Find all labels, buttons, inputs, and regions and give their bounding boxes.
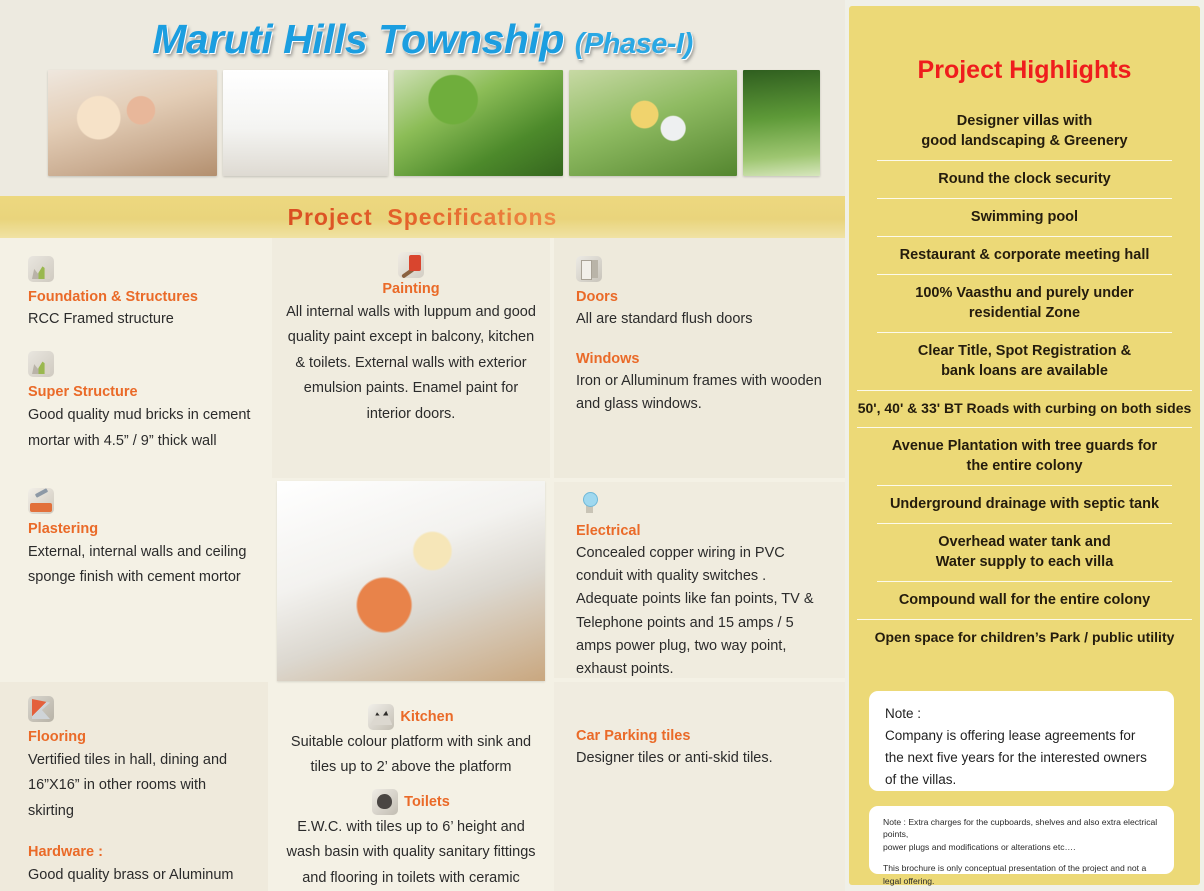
- kitchen-icon: [368, 704, 394, 730]
- photo-garden-path: [743, 70, 820, 176]
- painting-icon: [398, 252, 424, 278]
- photo-happy-family: [277, 481, 545, 681]
- spec-body: External, internal walls and ceiling spo…: [28, 540, 252, 591]
- toilets-icon: [372, 789, 398, 815]
- note-line-1: Company is offering lease agreements for: [885, 725, 1158, 747]
- specifications-banner-title: Project Specifications: [288, 204, 558, 231]
- spec-cell-foundation: Foundation & Structures RCC Framed struc…: [0, 238, 268, 478]
- spec-cell-plastering: Plastering External, internal walls and …: [0, 482, 268, 678]
- spec-heading: Plastering: [28, 521, 252, 537]
- foundation-icon: [28, 256, 54, 282]
- electrical-icon: [576, 490, 602, 516]
- note-label: Note :: [885, 703, 1158, 725]
- photo-family-picnic: [569, 70, 738, 176]
- disclaimer-line-3: This brochure is only conceptual present…: [883, 862, 1160, 887]
- highlight-item: Avenue Plantation with tree guards for t…: [849, 427, 1200, 485]
- highlight-item: Open space for children’s Park / public …: [849, 619, 1200, 656]
- photo-family-bedroom: [48, 70, 217, 176]
- highlights-list: Designer villas with good landscaping & …: [849, 102, 1200, 657]
- disclaimer-line-2: power plugs and modifications or alterat…: [883, 841, 1160, 853]
- main-content-area: Maruti Hills Township (Phase-I) Project …: [0, 0, 845, 891]
- spec-cell-doors-windows: Doors All are standard flush doors Windo…: [554, 238, 845, 478]
- spec-body: Good quality brass or Aluminum items as …: [28, 863, 252, 891]
- highlight-item: Swimming pool: [849, 198, 1200, 236]
- highlight-item: Restaurant & corporate meeting hall: [849, 236, 1200, 274]
- highlight-item: 100% Vaasthu and purely under residentia…: [849, 274, 1200, 332]
- highlights-sidebar: Project Highlights Designer villas with …: [845, 0, 1204, 891]
- title-main-text: Maruti Hills Township: [152, 16, 564, 62]
- specifications-banner: Project Specifications: [0, 196, 845, 238]
- spec-heading: Doors: [576, 289, 829, 305]
- highlight-item: Underground drainage with septic tank: [849, 485, 1200, 523]
- spec-cell-flooring-hardware: Flooring Vertified tiles in hall, dining…: [0, 682, 268, 891]
- spec-heading: Foundation & Structures: [28, 289, 252, 305]
- flooring-icon: [28, 696, 54, 722]
- spec-cell-painting: Painting All internal walls with luppum …: [272, 238, 550, 478]
- header-block: Maruti Hills Township (Phase-I): [0, 0, 845, 196]
- spec-heading: Hardware :: [28, 844, 252, 860]
- highlights-panel: Project Highlights Designer villas with …: [849, 6, 1200, 885]
- note-box: Note : Company is offering lease agreeme…: [869, 691, 1174, 791]
- spec-body: Suitable colour platform with sink and t…: [286, 730, 536, 781]
- note-line-3: of the villas.: [885, 769, 1158, 791]
- highlights-title: Project Highlights: [849, 56, 1200, 85]
- photo-living-room: [223, 70, 388, 176]
- spec-cell-car-parking: Car Parking tiles Designer tiles or anti…: [554, 682, 845, 891]
- spec-body: Iron or Alluminum frames with wooden and…: [576, 370, 829, 416]
- spec-body: RCC Framed structure: [28, 308, 252, 331]
- spec-body: E.W.C. with tiles up to 6’ height and wa…: [286, 815, 536, 891]
- photo-man-garden: [394, 70, 563, 176]
- doors-icon: [576, 256, 602, 282]
- spec-heading: Kitchen: [400, 709, 453, 725]
- spec-body: All are standard flush doors: [576, 308, 829, 331]
- page-title: Maruti Hills Township (Phase-I): [0, 16, 845, 63]
- header-photo-strip: [48, 70, 820, 176]
- highlight-item: Designer villas with good landscaping & …: [849, 102, 1200, 160]
- spec-body: Concealed copper wiring in PVC conduit w…: [576, 542, 829, 681]
- highlight-item: Compound wall for the entire colony: [849, 581, 1200, 619]
- spec-cell-kitchen-toilets: Kitchen Suitable colour platform with si…: [272, 682, 550, 891]
- disclaimer-line-1: Note : Extra charges for the cupboards, …: [883, 816, 1160, 841]
- plastering-icon: [28, 488, 54, 514]
- spec-heading: Painting: [286, 281, 536, 297]
- super-structure-icon: [28, 351, 54, 377]
- spec-body: Designer tiles or anti-skid tiles.: [576, 747, 829, 770]
- spec-heading: Car Parking tiles: [576, 728, 829, 744]
- brochure-page: Maruti Hills Township (Phase-I) Project …: [0, 0, 1204, 891]
- highlight-item: Overhead water tank and Water supply to …: [849, 523, 1200, 581]
- specifications-grid: Foundation & Structures RCC Framed struc…: [0, 238, 845, 891]
- spec-body: All internal walls with luppum and good …: [286, 300, 536, 427]
- spec-cell-electrical: Electrical Concealed copper wiring in PV…: [554, 482, 845, 678]
- note-line-2: the next five years for the interested o…: [885, 747, 1158, 769]
- highlight-item: Round the clock security: [849, 160, 1200, 198]
- highlight-item: 50', 40' & 33' BT Roads with curbing on …: [849, 390, 1200, 427]
- spec-heading: Super Structure: [28, 384, 252, 400]
- spec-heading: Electrical: [576, 523, 829, 539]
- spec-heading: Windows: [576, 351, 829, 367]
- spec-body: Good quality mud bricks in cement mortar…: [28, 403, 252, 454]
- highlight-item: Clear Title, Spot Registration & bank lo…: [849, 332, 1200, 390]
- title-phase-text: (Phase-I): [575, 28, 693, 60]
- disclaimer-box: Note : Extra charges for the cupboards, …: [869, 806, 1174, 874]
- spec-heading: Toilets: [404, 794, 450, 810]
- spec-heading: Flooring: [28, 729, 252, 745]
- spec-body: Vertified tiles in hall, dining and 16”X…: [28, 748, 252, 824]
